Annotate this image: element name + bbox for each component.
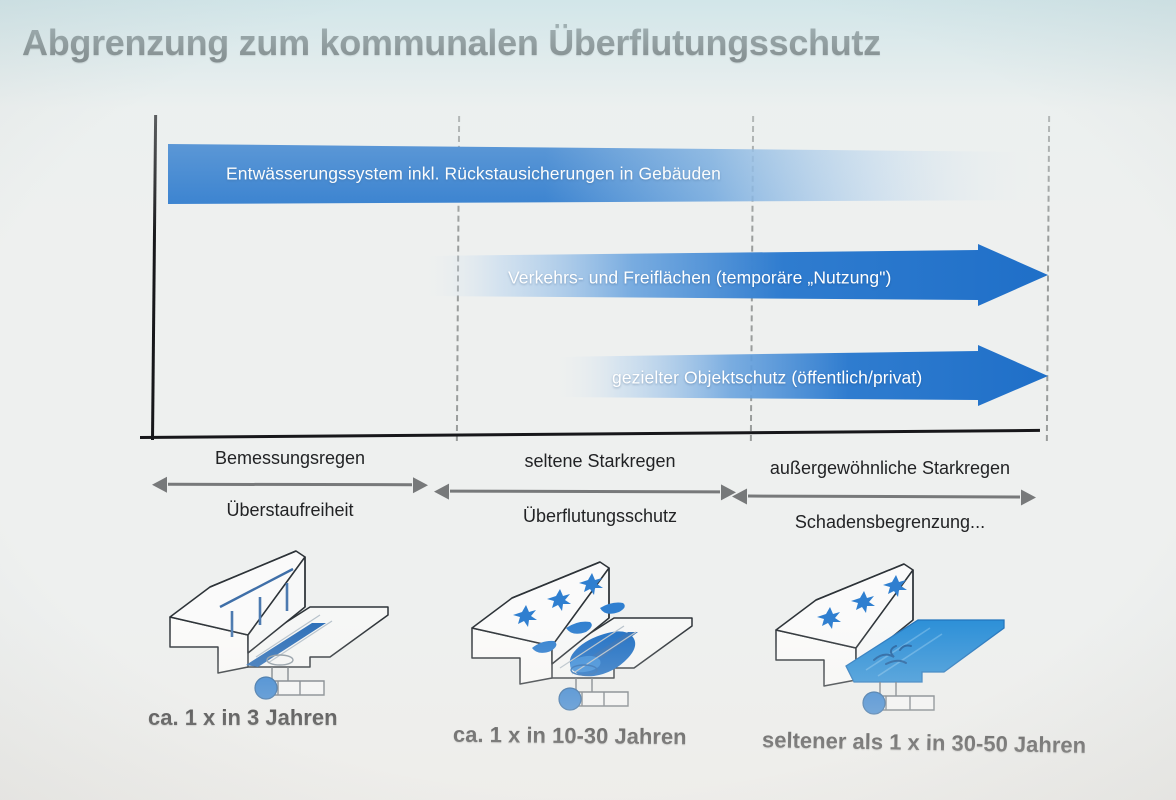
x-axis-line [140,429,1040,439]
bar-entwaesserungssystem: Entwässerungssystem inkl. Rückstausicher… [168,142,1046,206]
house-flooded [762,552,1012,720]
zone-seltene-starkregen-label-bottom: Überflutungsschutz [450,506,750,527]
zone-aussergewoehnliche-starkregen-label-bottom: Schadensbegrenzung... [740,512,1040,533]
house-normal-rain [160,545,390,705]
bar-objektschutz: gezielter Objektschutz (öffentlich/priva… [550,345,1048,411]
zone-aussergewoehnliche-starkregen-label-top: außergewöhnliche Starkregen [740,458,1040,479]
page-title: Abgrenzung zum kommunalen Überflutungssc… [22,22,881,64]
zone-seltene-starkregen-label-top: seltene Starkregen [450,451,750,472]
house-heavy-rain [460,552,700,717]
zone-bemessungsregen-label-bottom: Überstaufreiheit [152,500,428,521]
y-axis-line [151,115,157,440]
caption-zone-1: ca. 1 x in 3 Jahren [148,705,338,731]
bar-verkehrsflaechen-label: Verkehrs- und Freiflächen (temporäre „Nu… [508,268,891,289]
zone-bemessungsregen-label-top: Bemessungsregen [152,448,428,469]
bar-objektschutz-label: gezielter Objektschutz (öffentlich/priva… [612,368,922,389]
slide-canvas: Abgrenzung zum kommunalen Überflutungssc… [0,0,1176,800]
zone-seltene-starkregen-arrow [450,490,720,494]
zone-aussergewoehnliche-starkregen-arrow [748,495,1020,499]
zone-bemessungsregen-arrow [168,483,412,486]
caption-zone-2: ca. 1 x in 10-30 Jahren [453,722,687,750]
bar-verkehrsflaechen: Verkehrs- und Freiflächen (temporäre „Nu… [418,244,1048,312]
bar-entwaesserungssystem-label: Entwässerungssystem inkl. Rückstausicher… [226,164,721,185]
